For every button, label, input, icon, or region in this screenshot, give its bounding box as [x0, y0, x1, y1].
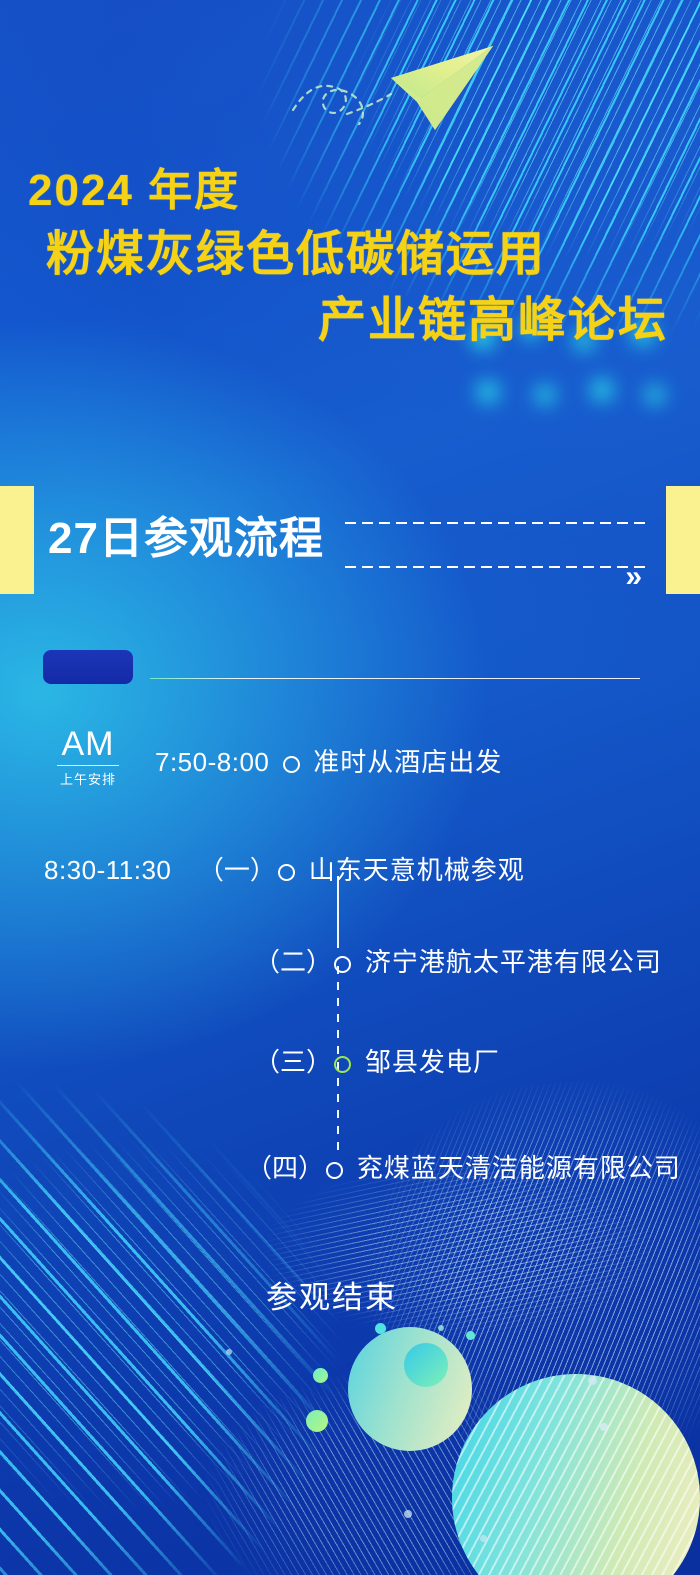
- schedule-list: 7:50-8:00 准时从酒店出发 8:30-11:30 （一） 山东天意机械参…: [0, 0, 700, 1575]
- schedule-label-3: 济宁港航太平港有限公司: [365, 947, 662, 977]
- schedule-time-1: 7:50-8:00: [155, 747, 269, 777]
- schedule-row-1[interactable]: 7:50-8:00 准时从酒店出发: [155, 742, 502, 779]
- decorative-dot: [313, 1368, 328, 1383]
- schedule-row-2[interactable]: 8:30-11:30 （一） 山东天意机械参观: [44, 850, 525, 887]
- decorative-dot: [306, 1410, 328, 1432]
- decorative-dot: [404, 1510, 412, 1518]
- decorative-dot: [375, 1323, 386, 1334]
- title-line-3: 产业链高峰论坛: [22, 296, 678, 346]
- timeline-ring-icon: [326, 1162, 343, 1179]
- decorative-circle-medium: [348, 1327, 472, 1451]
- schedule-label-1: 准时从酒店出发: [313, 747, 502, 777]
- decorative-dot: [466, 1331, 475, 1340]
- schedule-label-4: 邹县发电厂: [365, 1047, 500, 1077]
- schedule-index-3: （二）: [254, 947, 332, 977]
- chevron-double-right-icon: »: [625, 562, 638, 592]
- dashed-rule-bottom: [345, 566, 645, 568]
- section-title: 27日参观流程: [48, 502, 324, 566]
- decorative-dot: [480, 1535, 487, 1542]
- schedule-index-5: （四）: [246, 1153, 324, 1183]
- schedule-row-3[interactable]: （二） 济宁港航太平港有限公司: [254, 942, 662, 979]
- schedule-index-4: （三）: [254, 1047, 332, 1077]
- schedule-row-4[interactable]: （三） 邹县发电厂: [254, 1042, 500, 1079]
- schedule-label-5: 兖煤蓝天清洁能源有限公司: [357, 1153, 681, 1183]
- visit-end-text: 参观结束: [266, 1272, 398, 1317]
- decorative-circle-small: [404, 1343, 448, 1387]
- timeline-ring-icon: [334, 1056, 351, 1073]
- timeline-ring-icon: [283, 756, 300, 773]
- schedule-row-5[interactable]: （四） 兖煤蓝天清洁能源有限公司: [246, 1148, 681, 1185]
- schedule-index-2: （一）: [198, 855, 276, 885]
- timeline-ring-icon: [278, 864, 295, 881]
- decorative-dot: [588, 1376, 597, 1385]
- schedule-time-2: 8:30-11:30: [44, 855, 171, 885]
- dashed-rule-top: [345, 522, 645, 524]
- poster-canvas: 2024 年度 粉煤灰绿色低碳储运用 产业链高峰论坛 27日参观流程 » AM …: [0, 0, 700, 1575]
- decorative-dot: [438, 1325, 444, 1331]
- decorative-dot: [226, 1349, 232, 1355]
- decorative-dot: [600, 1423, 608, 1431]
- schedule-label-2: 山东天意机械参观: [309, 855, 525, 885]
- timeline-ring-icon: [334, 956, 351, 973]
